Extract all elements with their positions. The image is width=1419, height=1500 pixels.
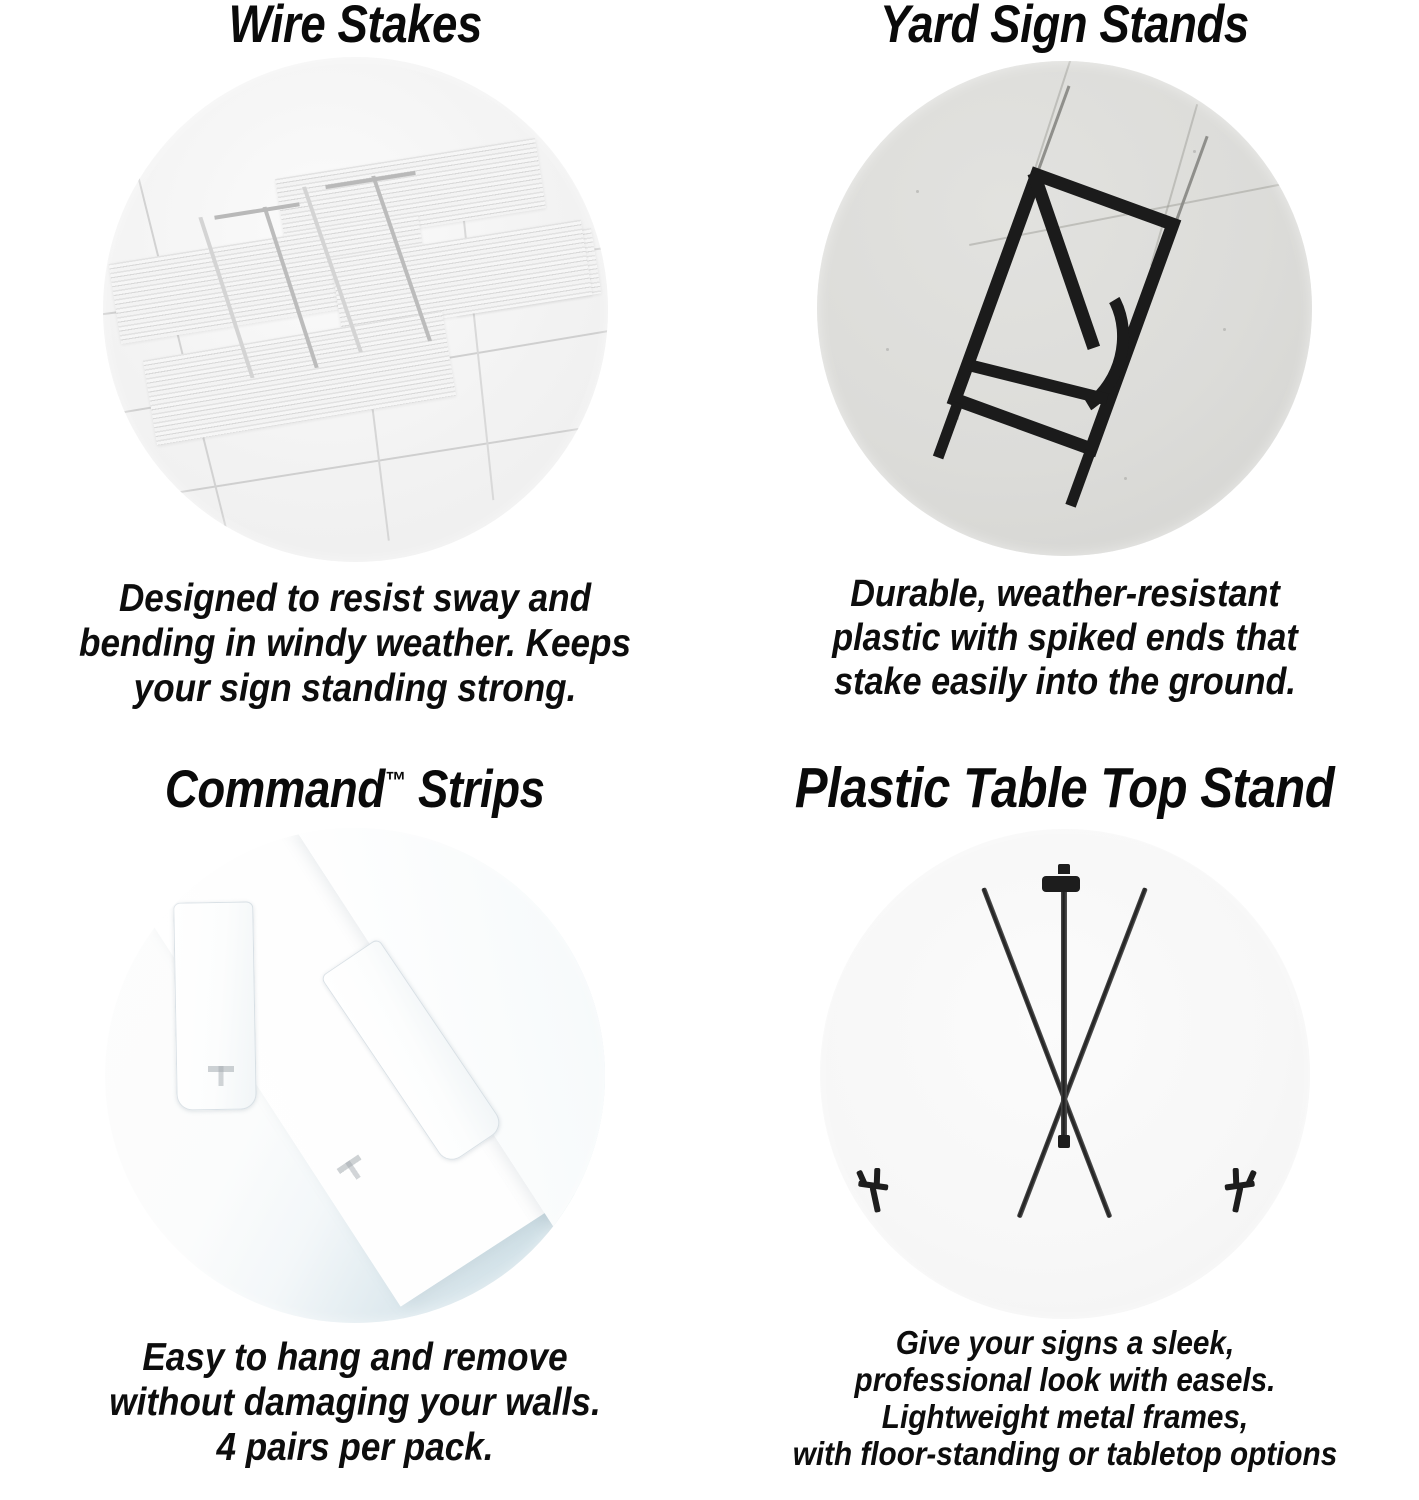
- easel-top-hub: [1042, 876, 1080, 892]
- concrete-speck: [886, 348, 889, 351]
- feature-caption-command-strips: Easy to hang and remove without damaging…: [67, 1335, 643, 1471]
- stand-spiked-end: [1065, 449, 1095, 507]
- feature-cell-wire-stakes: Wire Stakes: [0, 0, 710, 750]
- product-photo-command-strips: [105, 828, 605, 1323]
- feature-caption-plastic-table-top-stand: Give your signs a sleek, professional lo…: [754, 1325, 1375, 1473]
- feature-heading-wire-stakes: Wire Stakes: [228, 0, 481, 51]
- concrete-speck: [1193, 150, 1196, 153]
- feature-cell-yard-sign-stands: Yard Sign Stands: [710, 0, 1419, 750]
- easel-foot-right: [1199, 1164, 1257, 1217]
- stand-wire-spike: [1036, 85, 1070, 172]
- feature-heading-plastic-table-top-stand: Plastic Table Top Stand: [795, 760, 1334, 817]
- feature-caption-yard-sign-stands: Durable, weather-resistant plastic with …: [786, 572, 1344, 704]
- foot-prong: [869, 1186, 880, 1213]
- easel-center-leg-tip: [1058, 1135, 1070, 1148]
- feature-heading-command-strips: Command™ Strips: [165, 763, 545, 816]
- stand-spiked-end: [932, 401, 962, 459]
- feature-heading-command-word: Command: [165, 760, 385, 819]
- feature-heading-strips-word: Strips: [406, 760, 545, 819]
- product-photo-table-top-stand: [820, 829, 1310, 1319]
- foot-prong: [1232, 1186, 1243, 1213]
- easel-foot-left: [856, 1164, 914, 1217]
- feature-caption-wire-stakes: Designed to resist sway and bending in w…: [67, 576, 643, 712]
- concrete-speck: [1223, 328, 1226, 331]
- feature-cell-command-strips: Command™ Strips Easy to hang and remove …: [0, 750, 710, 1500]
- feature-cell-plastic-table-top-stand: Plastic Table Top Stand: [710, 750, 1419, 1500]
- trademark-symbol: ™: [385, 767, 406, 794]
- wire-stakes-illustration: [103, 57, 608, 562]
- feature-heading-yard-sign-stands: Yard Sign Stands: [880, 0, 1249, 51]
- stand-wire-spike: [1174, 135, 1208, 222]
- easel-top-cap: [1058, 864, 1070, 874]
- easel-leg-right: [1017, 887, 1148, 1218]
- product-feature-infographic: Wire Stakes: [0, 0, 1419, 1500]
- product-photo-yard-sign-stands: [817, 61, 1312, 556]
- concrete-speck: [916, 190, 919, 193]
- 3m-logo-icon: [208, 1066, 234, 1086]
- easel-leg-left: [981, 887, 1112, 1218]
- feature-grid: Wire Stakes: [0, 0, 1419, 1500]
- product-photo-wire-stakes: [103, 57, 608, 562]
- yard-sign-stand-illustration: [909, 118, 1219, 500]
- concrete-speck: [1124, 477, 1127, 480]
- easel-leg-center: [1061, 888, 1067, 1143]
